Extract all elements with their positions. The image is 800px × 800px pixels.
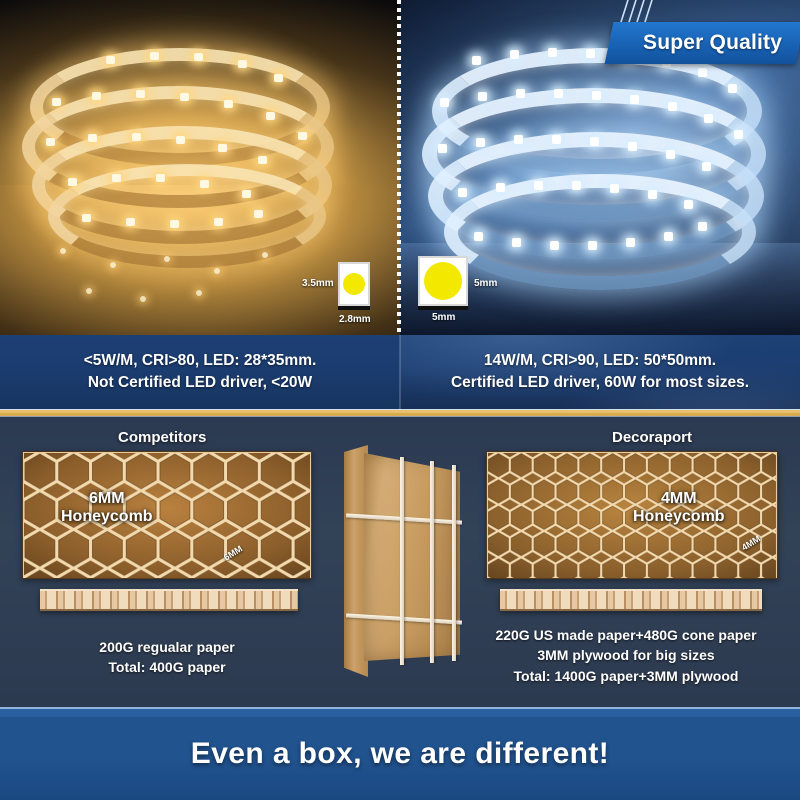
product-comparison-infographic: 3.5mm 2.8mm bbox=[0, 0, 800, 800]
photo-dashed-divider bbox=[397, 0, 401, 335]
decoraport-spec-panel: 14W/M, CRI>90, LED: 50*50mm. Certified L… bbox=[400, 335, 800, 409]
tagline-text: Even a box, we are different! bbox=[191, 737, 609, 771]
led-chip-width-label: 2.8mm bbox=[339, 314, 371, 325]
competitor-caption-line2: Total: 400G paper bbox=[22, 657, 312, 677]
decoraport-honeycomb-panel: 4MM Honeycomb 4MM bbox=[486, 451, 778, 579]
competitor-board-edge-strip bbox=[40, 589, 298, 611]
super-quality-badge: Super Quality bbox=[604, 22, 800, 64]
warm-led-reel bbox=[22, 38, 352, 253]
spec-divider bbox=[399, 335, 401, 409]
decoraport-spec-line1: 14W/M, CRI>90, LED: 50*50mm. bbox=[484, 352, 716, 370]
cool-led-reel bbox=[418, 42, 778, 292]
decoraport-paper-caption: 220G US made paper+480G cone paper 3MM p… bbox=[466, 625, 786, 686]
spec-comparison-row: <5W/M, CRI>80, LED: 28*35mm. Not Certifi… bbox=[0, 335, 800, 409]
led-chip-body bbox=[418, 256, 468, 306]
decoraport-title: Decoraport bbox=[612, 429, 692, 446]
led-chip-base bbox=[418, 306, 468, 310]
competitor-paper-caption: 200G regualar paper Total: 400G paper bbox=[22, 637, 312, 678]
competitor-spec-line2: Not Certified LED driver, <20W bbox=[88, 374, 312, 392]
competitor-caption-line1: 200G regualar paper bbox=[22, 637, 312, 657]
decoraport-honeycomb-word: Honeycomb bbox=[633, 508, 725, 526]
led-photo-comparison-row: 3.5mm 2.8mm bbox=[0, 0, 800, 335]
bottom-tagline-bar: Even a box, we are different! bbox=[0, 707, 800, 800]
decoraport-caption-line1: 220G US made paper+480G cone paper bbox=[466, 625, 786, 645]
led-emitter-dot bbox=[343, 273, 365, 295]
competitor-honeycomb-word: Honeycomb bbox=[61, 508, 153, 526]
led-chip-base bbox=[338, 306, 370, 310]
warm-led-strip-photo: 3.5mm 2.8mm bbox=[0, 0, 400, 335]
led-chip-callout-competitor: 3.5mm 2.8mm bbox=[334, 262, 370, 316]
competitor-spec-panel: <5W/M, CRI>80, LED: 28*35mm. Not Certifi… bbox=[0, 335, 400, 409]
led-chip-height-label: 3.5mm bbox=[302, 278, 334, 289]
decoraport-board-edge-strip bbox=[500, 589, 762, 611]
carton-strap-vertical bbox=[430, 461, 434, 663]
shipping-carton-figure bbox=[338, 439, 466, 689]
decoraport-caption-line3: Total: 1400G paper+3MM plywood bbox=[466, 666, 786, 686]
competitors-title: Competitors bbox=[118, 429, 206, 446]
decoraport-honeycomb-overlay: 4MM Honeycomb bbox=[633, 490, 725, 527]
led-chip-body bbox=[338, 262, 370, 306]
led-chip-width-label: 5mm bbox=[432, 312, 455, 323]
competitor-spec-line1: <5W/M, CRI>80, LED: 28*35mm. bbox=[84, 352, 317, 370]
carton-strap-vertical bbox=[452, 465, 456, 661]
decoraport-caption-line2: 3MM plywood for big sizes bbox=[466, 645, 786, 665]
carton-front-panel bbox=[364, 453, 460, 661]
carton-strap-vertical bbox=[400, 457, 404, 665]
decoraport-honeycomb-size: 4MM bbox=[633, 490, 725, 508]
led-chip-height-label: 5mm bbox=[474, 278, 497, 289]
competitor-honeycomb-overlay: 6MM Honeycomb bbox=[61, 490, 153, 527]
decoraport-spec-line2: Certified LED driver, 60W for most sizes… bbox=[451, 374, 749, 392]
decoraport-honeycomb-cells bbox=[487, 452, 777, 579]
led-chip-callout-decoraport: 5mm 5mm bbox=[418, 256, 480, 318]
competitor-honeycomb-panel: 6MM Honeycomb 6MM bbox=[22, 451, 312, 579]
led-emitter-dot bbox=[424, 262, 462, 300]
gold-section-divider bbox=[0, 409, 800, 417]
super-quality-label: Super Quality bbox=[643, 31, 782, 55]
competitor-honeycomb-size: 6MM bbox=[61, 490, 153, 508]
packaging-comparison-section: Competitors 6MM H bbox=[0, 417, 800, 707]
